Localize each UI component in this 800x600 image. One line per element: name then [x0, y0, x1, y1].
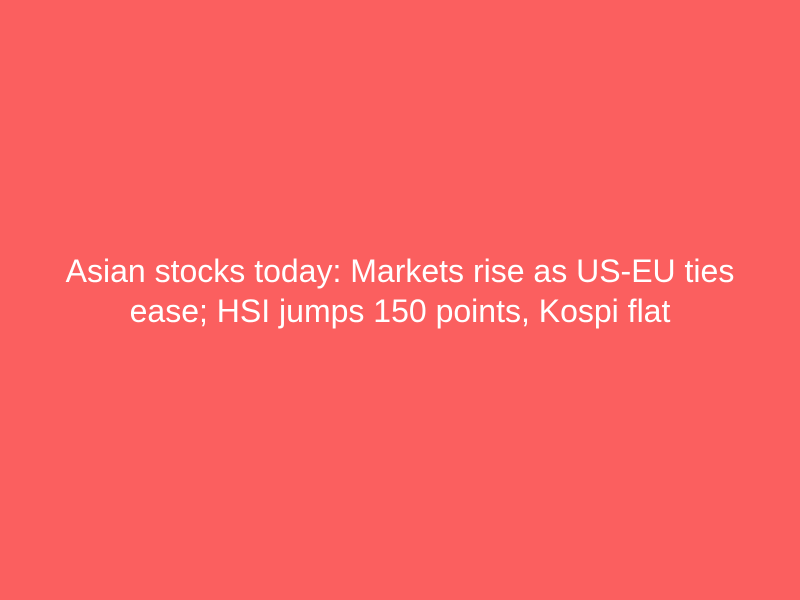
headline-line-1: Asian stocks today: Markets rise as US-E…: [0, 251, 800, 291]
headline-line-2: ease; HSI jumps 150 points, Kospi flat: [0, 291, 800, 331]
headline-text-block: Asian stocks today: Markets rise as US-E…: [0, 251, 800, 331]
headline-card: Asian stocks today: Markets rise as US-E…: [0, 0, 800, 600]
